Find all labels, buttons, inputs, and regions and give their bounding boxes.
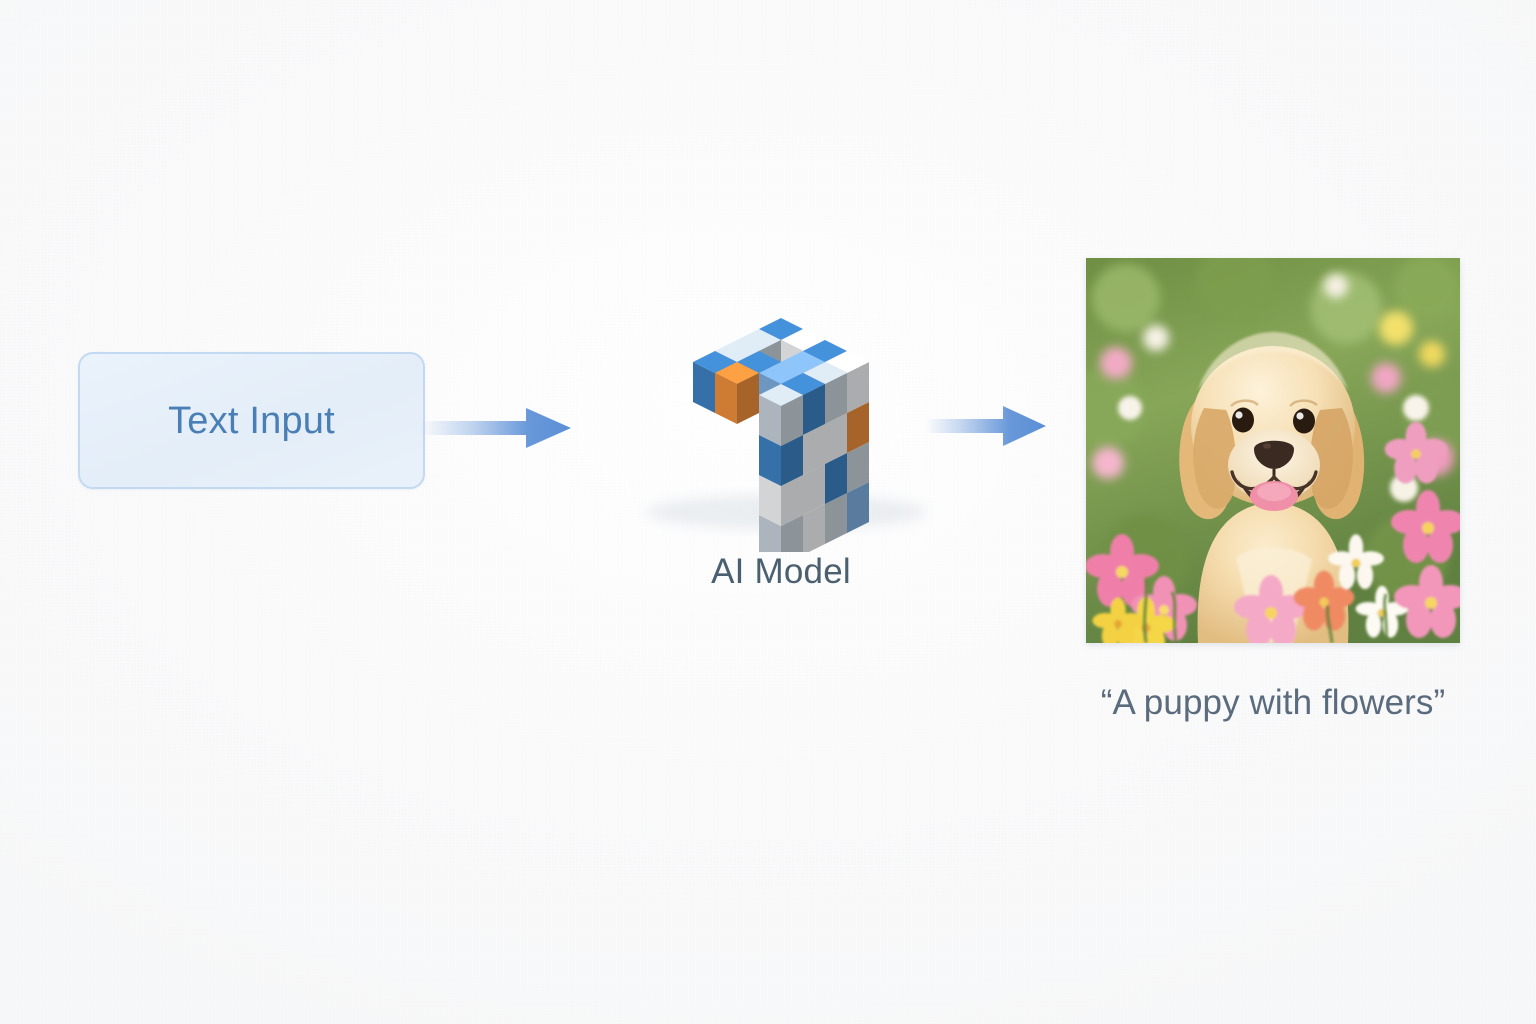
output-node[interactable]: “A puppy with flowers”: [1086, 258, 1460, 723]
arrow-model-to-output: [925, 402, 1047, 450]
isometric-cube-icon: [596, 262, 966, 552]
ai-model-node[interactable]: AI Model: [596, 262, 966, 602]
ai-model-label: AI Model: [596, 552, 966, 592]
cube-cell: [715, 362, 759, 424]
generated-image: [1086, 258, 1460, 643]
arrow-input-to-model: [420, 404, 572, 452]
text-input-node[interactable]: Text Input: [78, 352, 425, 489]
cube-cell: [759, 384, 803, 446]
diagram-canvas: Text Input: [0, 0, 1536, 1024]
text-input-label: Text Input: [168, 402, 335, 440]
puppy-with-flowers-illustration: [1086, 258, 1460, 643]
output-caption: “A puppy with flowers”: [1086, 683, 1460, 723]
